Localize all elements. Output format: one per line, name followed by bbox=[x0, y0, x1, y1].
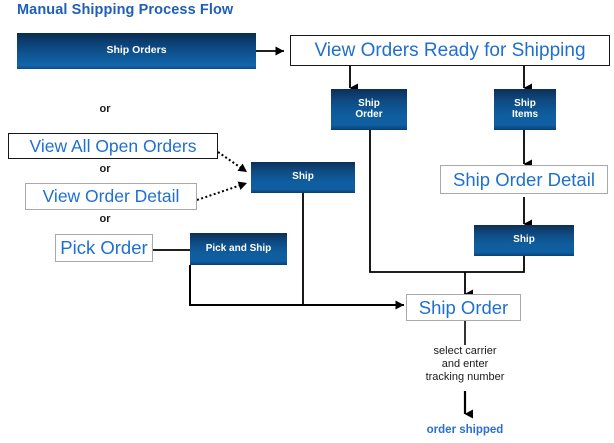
connector-leftshiporder-to-bus bbox=[370, 130, 465, 272]
node-ship-action-right-label: Ship bbox=[513, 235, 535, 246]
diagram-canvas: Manual Shipping Process Flow Ship Orders… bbox=[0, 0, 614, 443]
node-view-order-detail-label: View Order Detail bbox=[43, 187, 180, 205]
node-ship-order-final[interactable]: Ship Order bbox=[406, 294, 521, 321]
node-ship-orders-banner-label: Ship Orders bbox=[106, 45, 166, 56]
node-ship-order-action[interactable]: Ship Order bbox=[331, 89, 407, 130]
node-view-orders-ready[interactable]: View Orders Ready for Shipping bbox=[290, 35, 610, 66]
node-ship-items-action-label: Ship Items bbox=[512, 99, 538, 120]
node-view-all-open-orders[interactable]: View All Open Orders bbox=[8, 133, 218, 159]
node-ship-action-mid[interactable]: Ship bbox=[251, 162, 355, 193]
select-carrier-note: select carrier and enter tracking number bbox=[395, 345, 535, 384]
node-ship-orders-banner[interactable]: Ship Orders bbox=[17, 33, 256, 69]
or-label-2: or bbox=[75, 163, 135, 175]
node-ship-items-action[interactable]: Ship Items bbox=[494, 89, 556, 130]
connector-rightship-to-bus bbox=[465, 256, 524, 272]
node-pick-and-ship-action[interactable]: Pick and Ship bbox=[190, 233, 287, 265]
or-label-3: or bbox=[75, 213, 135, 225]
node-pick-and-ship-action-label: Pick and Ship bbox=[206, 244, 272, 255]
order-shipped-label: order shipped bbox=[395, 424, 535, 436]
node-view-orders-ready-label: View Orders Ready for Shipping bbox=[314, 41, 585, 61]
connector-viewallopen-to-ship-dotted bbox=[218, 152, 247, 172]
node-view-all-open-orders-label: View All Open Orders bbox=[30, 137, 197, 155]
connector-vieworderdetail-to-ship-dotted bbox=[197, 183, 247, 200]
node-pick-order-label: Pick Order bbox=[60, 238, 147, 257]
node-ship-order-detail-label: Ship Order Detail bbox=[453, 170, 595, 189]
node-ship-order-action-label: Ship Order bbox=[355, 99, 382, 120]
page-title: Manual Shipping Process Flow bbox=[17, 2, 233, 18]
node-view-order-detail[interactable]: View Order Detail bbox=[25, 183, 197, 210]
or-label-1: or bbox=[75, 103, 135, 115]
node-ship-action-right[interactable]: Ship bbox=[474, 225, 574, 256]
connector-pickandship-to-lowerbus bbox=[190, 265, 398, 305]
node-ship-action-mid-label: Ship bbox=[292, 172, 314, 183]
node-ship-order-final-label: Ship Order bbox=[419, 298, 508, 317]
node-ship-order-detail[interactable]: Ship Order Detail bbox=[440, 165, 608, 194]
node-pick-order[interactable]: Pick Order bbox=[55, 234, 153, 262]
